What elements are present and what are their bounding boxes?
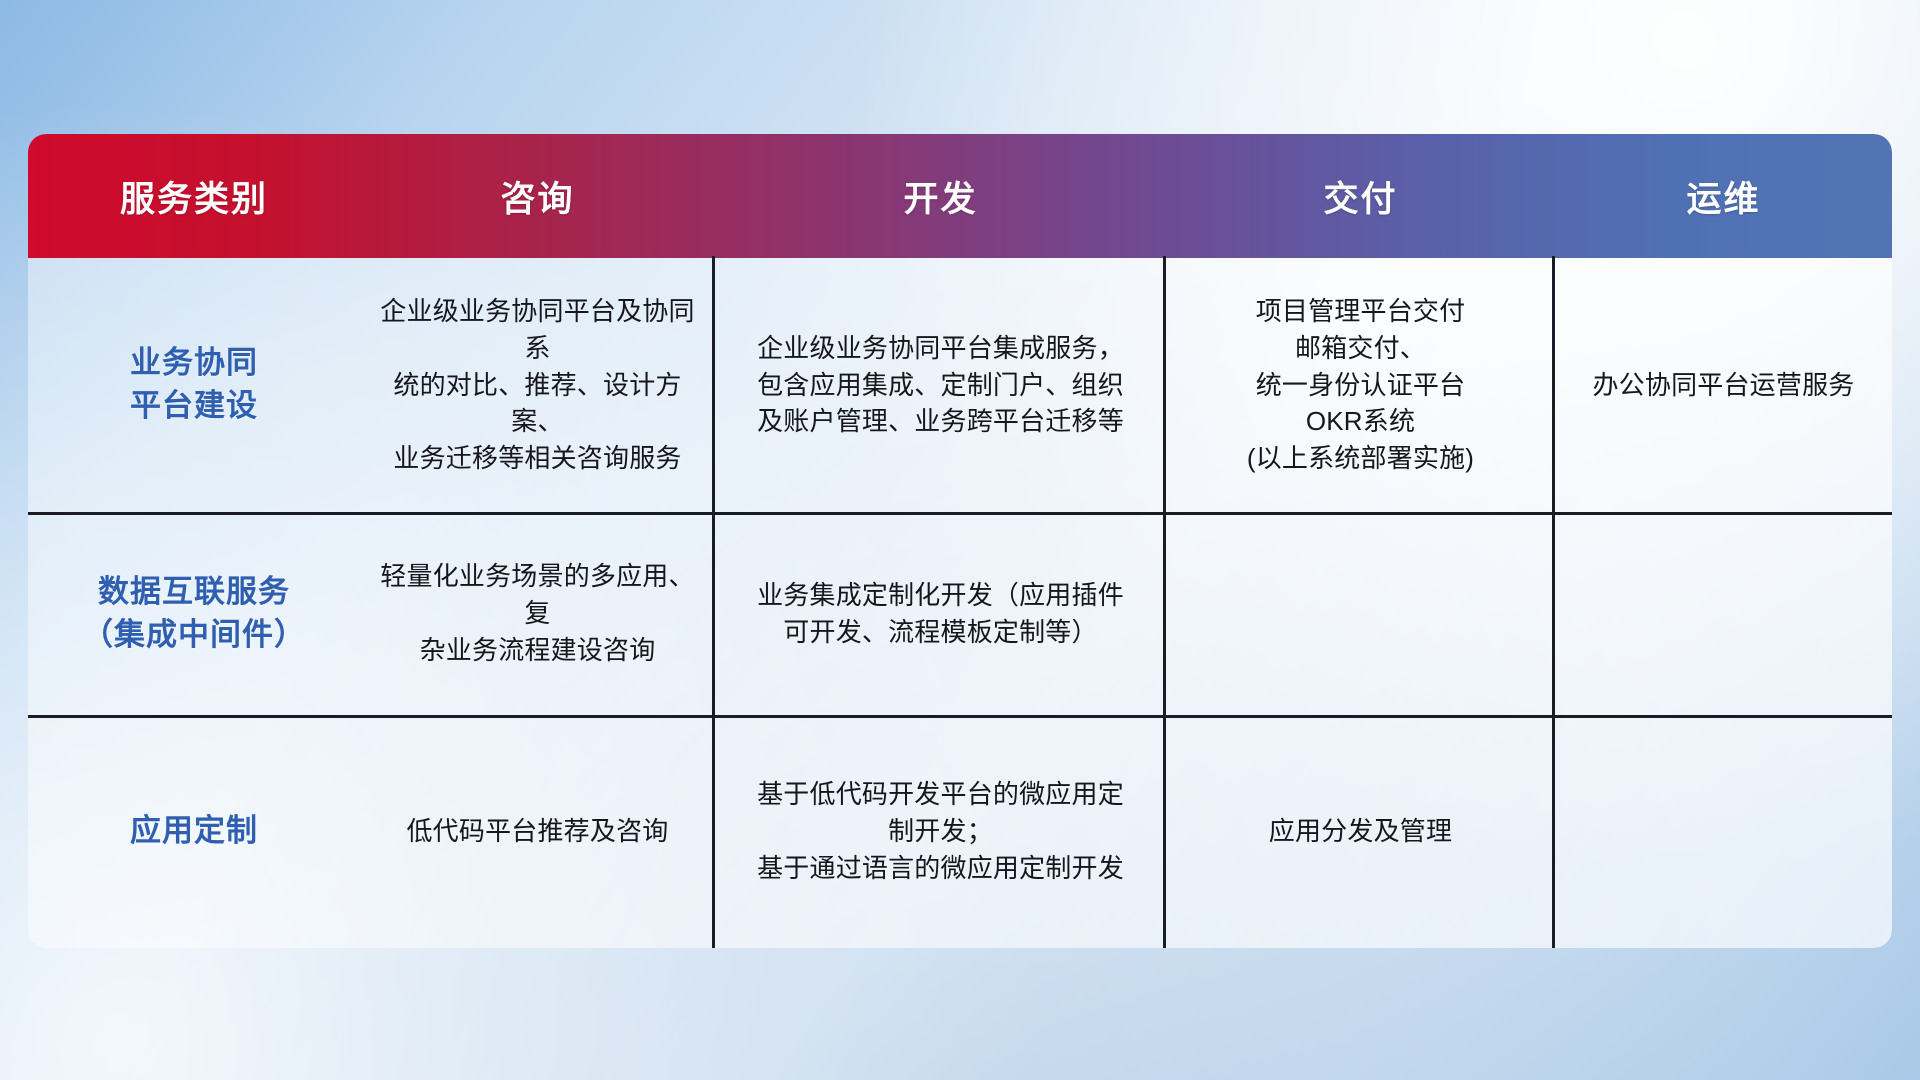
table-row: 应用定制 低代码平台推荐及咨询 基于低代码开发平台的微应用定 制开发； 基于通过… xyxy=(28,715,1892,948)
table-header-cell-delivery: 交付 xyxy=(1166,171,1555,222)
table-cell-consulting: 轻量化业务场景的多应用、复 杂业务流程建设咨询 xyxy=(360,512,715,715)
table-header-cell-consulting: 咨询 xyxy=(360,171,715,222)
cell-text: 企业级业务协同平台集成服务， 包含应用集成、定制门户、组织 及账户管理、业务跨平… xyxy=(757,330,1124,441)
table-cell-operations xyxy=(1555,512,1892,715)
category-label: 应用定制 xyxy=(130,810,258,853)
cell-text: 项目管理平台交付 邮箱交付、 统一身份认证平台 OKR系统 (以上系统部署实施) xyxy=(1247,293,1474,478)
table-header-cell-service-category: 服务类别 xyxy=(28,171,360,222)
service-matrix-table: 服务类别 咨询 开发 交付 运维 业务协同 平台建设 企业级业务协同平台及协同系… xyxy=(28,134,1892,948)
table-cell-development: 企业级业务协同平台集成服务， 包含应用集成、定制门户、组织 及账户管理、业务跨平… xyxy=(715,258,1166,512)
table-cell-development: 基于低代码开发平台的微应用定 制开发； 基于通过语言的微应用定制开发 xyxy=(715,715,1166,948)
table-cell-category: 应用定制 xyxy=(28,715,360,948)
table-cell-category: 数据互联服务 （集成中间件） xyxy=(28,512,360,715)
table-header-row: 服务类别 咨询 开发 交付 运维 xyxy=(28,134,1892,258)
table-cell-delivery: 项目管理平台交付 邮箱交付、 统一身份认证平台 OKR系统 (以上系统部署实施) xyxy=(1166,258,1555,512)
category-label: 数据互联服务 （集成中间件） xyxy=(82,571,306,657)
cell-text: 低代码平台推荐及咨询 xyxy=(406,813,668,850)
table-cell-development: 业务集成定制化开发（应用插件 可开发、流程模板定制等） xyxy=(715,512,1166,715)
table-cell-operations xyxy=(1555,715,1892,948)
table-cell-consulting: 低代码平台推荐及咨询 xyxy=(360,715,715,948)
table-header-cell-operations: 运维 xyxy=(1555,171,1892,222)
table-cell-delivery xyxy=(1166,512,1555,715)
category-label: 业务协同 平台建设 xyxy=(130,342,258,428)
slide-canvas: 服务类别 咨询 开发 交付 运维 业务协同 平台建设 企业级业务协同平台及协同系… xyxy=(0,0,1920,1080)
table-header-cell-development: 开发 xyxy=(715,171,1166,222)
table-cell-category: 业务协同 平台建设 xyxy=(28,258,360,512)
table-cell-operations: 办公协同平台运营服务 xyxy=(1555,258,1892,512)
cell-text: 办公协同平台运营服务 xyxy=(1592,367,1854,404)
table-cell-delivery: 应用分发及管理 xyxy=(1166,715,1555,948)
cell-text: 企业级业务协同平台及协同系 统的对比、推荐、设计方案、 业务迁移等相关咨询服务 xyxy=(374,293,701,478)
cell-text: 轻量化业务场景的多应用、复 杂业务流程建设咨询 xyxy=(374,558,701,669)
table-body: 业务协同 平台建设 企业级业务协同平台及协同系 统的对比、推荐、设计方案、 业务… xyxy=(28,258,1892,948)
table-row: 数据互联服务 （集成中间件） 轻量化业务场景的多应用、复 杂业务流程建设咨询 业… xyxy=(28,512,1892,715)
table-row: 业务协同 平台建设 企业级业务协同平台及协同系 统的对比、推荐、设计方案、 业务… xyxy=(28,258,1892,512)
cell-text: 应用分发及管理 xyxy=(1269,813,1452,850)
cell-text: 业务集成定制化开发（应用插件 可开发、流程模板定制等） xyxy=(757,577,1124,651)
cell-text: 基于低代码开发平台的微应用定 制开发； 基于通过语言的微应用定制开发 xyxy=(757,776,1124,887)
table-cell-consulting: 企业级业务协同平台及协同系 统的对比、推荐、设计方案、 业务迁移等相关咨询服务 xyxy=(360,258,715,512)
